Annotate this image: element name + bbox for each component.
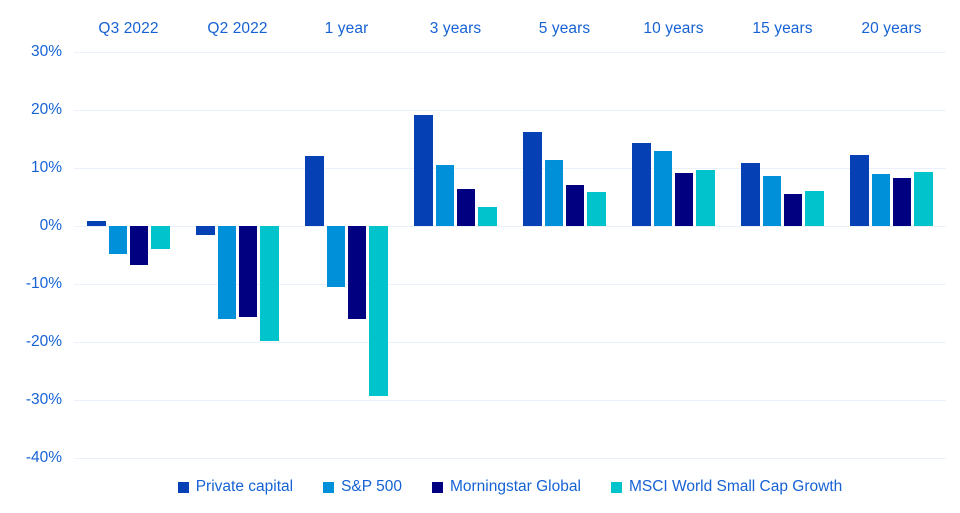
bar-column — [893, 52, 911, 458]
y-axis-tick-label: 0% — [0, 217, 62, 235]
bar-group-bars — [196, 52, 279, 458]
legend-item[interactable]: S&P 500 — [323, 478, 402, 496]
bar-column — [369, 52, 387, 458]
bar-column — [414, 52, 432, 458]
legend-label: Private capital — [196, 478, 293, 496]
bar-group — [837, 52, 946, 458]
bar-column — [239, 52, 257, 458]
bar-group-bars — [87, 52, 170, 458]
bar-column — [763, 52, 781, 458]
bar-group — [74, 52, 183, 458]
bar-column — [457, 52, 475, 458]
bar-group-bars — [850, 52, 933, 458]
bar[interactable] — [696, 170, 714, 226]
bar[interactable] — [414, 115, 432, 226]
bar[interactable] — [130, 226, 148, 265]
bar-group — [401, 52, 510, 458]
bar[interactable] — [784, 194, 802, 226]
y-axis-tick-label: 10% — [0, 159, 62, 177]
bar-column — [872, 52, 890, 458]
category-label: 1 year — [292, 16, 401, 42]
y-axis-tick-label: 30% — [0, 43, 62, 61]
bar-column — [675, 52, 693, 458]
legend-item[interactable]: MSCI World Small Cap Growth — [611, 478, 842, 496]
bar-column — [850, 52, 868, 458]
bar[interactable] — [566, 185, 584, 226]
legend-item[interactable]: Private capital — [178, 478, 293, 496]
category-label: Q3 2022 — [74, 16, 183, 42]
bar[interactable] — [632, 143, 650, 226]
bar-group-bars — [523, 52, 606, 458]
y-axis-tick-label: 20% — [0, 101, 62, 119]
bar[interactable] — [196, 226, 214, 235]
legend-label: S&P 500 — [341, 478, 402, 496]
bar-group-bars — [305, 52, 388, 458]
bar[interactable] — [763, 176, 781, 226]
bar[interactable] — [457, 189, 475, 226]
legend-swatch-icon — [178, 482, 189, 493]
bar-column — [109, 52, 127, 458]
bar[interactable] — [218, 226, 236, 319]
legend-swatch-icon — [323, 482, 334, 493]
bar[interactable] — [260, 226, 278, 341]
bar[interactable] — [348, 226, 366, 319]
bar-group — [510, 52, 619, 458]
bar[interactable] — [305, 156, 323, 226]
bar-group-bars — [414, 52, 497, 458]
bar-column — [914, 52, 932, 458]
bar-column — [260, 52, 278, 458]
bar[interactable] — [87, 221, 105, 226]
bar-column — [741, 52, 759, 458]
bar-chart: Q3 2022Q2 20221 year3 years5 years10 yea… — [0, 0, 960, 513]
bar[interactable] — [914, 172, 932, 226]
legend-label: MSCI World Small Cap Growth — [629, 478, 842, 496]
legend-swatch-icon — [611, 482, 622, 493]
bar-column — [305, 52, 323, 458]
bar-column — [632, 52, 650, 458]
bar-column — [130, 52, 148, 458]
bar[interactable] — [850, 155, 868, 226]
bar[interactable] — [545, 160, 563, 226]
category-label: 15 years — [728, 16, 837, 42]
category-label: 3 years — [401, 16, 510, 42]
bar[interactable] — [478, 207, 496, 226]
bar[interactable] — [741, 163, 759, 226]
bar-column — [87, 52, 105, 458]
bar-group — [728, 52, 837, 458]
bar-group — [183, 52, 292, 458]
bar-group — [292, 52, 401, 458]
bar[interactable] — [369, 226, 387, 396]
bar[interactable] — [675, 173, 693, 226]
bar-group — [619, 52, 728, 458]
bar[interactable] — [239, 226, 257, 317]
chart-legend: Private capitalS&P 500Morningstar Global… — [74, 472, 946, 502]
bar-group-bars — [632, 52, 715, 458]
bar[interactable] — [151, 226, 169, 249]
bar-column — [805, 52, 823, 458]
bar[interactable] — [893, 178, 911, 226]
bar-column — [654, 52, 672, 458]
bar[interactable] — [654, 151, 672, 226]
bar[interactable] — [587, 192, 605, 226]
y-axis-tick-label: -40% — [0, 449, 62, 467]
category-label: 20 years — [837, 16, 946, 42]
bar[interactable] — [872, 174, 890, 226]
category-label-row: Q3 2022Q2 20221 year3 years5 years10 yea… — [74, 16, 946, 42]
bar[interactable] — [109, 226, 127, 254]
bar-column — [196, 52, 214, 458]
bar-column — [784, 52, 802, 458]
bar[interactable] — [805, 191, 823, 226]
bar-column — [218, 52, 236, 458]
bar-column — [436, 52, 454, 458]
bar-column — [523, 52, 541, 458]
plot-area: 30%20%10%0%-10%-20%-30%-40% — [74, 52, 946, 458]
bar-column — [327, 52, 345, 458]
gridline — [74, 458, 946, 459]
y-axis-tick-label: -10% — [0, 275, 62, 293]
bar[interactable] — [523, 132, 541, 226]
y-axis-tick-label: -20% — [0, 333, 62, 351]
bar-column — [587, 52, 605, 458]
bar-column — [696, 52, 714, 458]
bar-column — [545, 52, 563, 458]
bar[interactable] — [436, 165, 454, 226]
legend-swatch-icon — [432, 482, 443, 493]
y-axis-tick-label: -30% — [0, 391, 62, 409]
legend-label: Morningstar Global — [450, 478, 581, 496]
legend-item[interactable]: Morningstar Global — [432, 478, 581, 496]
bar-group-bars — [741, 52, 824, 458]
bar-column — [478, 52, 496, 458]
category-label: 10 years — [619, 16, 728, 42]
bar-column — [348, 52, 366, 458]
category-label: Q2 2022 — [183, 16, 292, 42]
bar-column — [151, 52, 169, 458]
category-label: 5 years — [510, 16, 619, 42]
bar-column — [566, 52, 584, 458]
bar[interactable] — [327, 226, 345, 287]
bar-groups — [74, 52, 946, 458]
